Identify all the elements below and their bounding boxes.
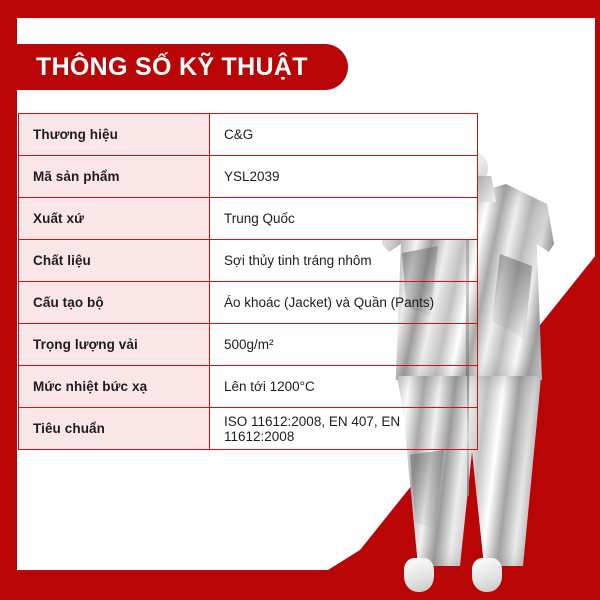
spec-value-cell: 500g/m²: [210, 324, 478, 366]
boot-left-shape: [404, 558, 434, 592]
spec-label-cell: Mã sản phẩm: [19, 156, 210, 198]
spec-label-cell: Xuất xứ: [19, 198, 210, 240]
table-row: Mã sản phẩm YSL2039: [19, 156, 478, 198]
spec-label-cell: Cấu tạo bộ: [19, 282, 210, 324]
table-row: Thương hiệu C&G: [19, 114, 478, 156]
spec-label-cell: Tiêu chuẩn: [19, 408, 210, 450]
spec-value-cell: Trung Quốc: [210, 198, 478, 240]
spec-value-cell: ISO 11612:2008, EN 407, EN 11612:2008: [210, 408, 478, 450]
spec-label-cell: Trọng lượng vải: [19, 324, 210, 366]
table-row: Tiêu chuẩn ISO 11612:2008, EN 407, EN 11…: [19, 408, 478, 450]
table-row: Chất liệu Sợi thủy tinh tráng nhôm: [19, 240, 478, 282]
frame-border-top: [0, 0, 600, 18]
spec-value-cell: C&G: [210, 114, 478, 156]
spec-label-cell: Thương hiệu: [19, 114, 210, 156]
table-row: Mức nhiệt bức xạ Lên tới 1200°C: [19, 366, 478, 408]
spec-value-cell: Sợi thủy tinh tráng nhôm: [210, 240, 478, 282]
specification-table-body: Thương hiệu C&G Mã sản phẩm YSL2039 Xuất…: [19, 114, 478, 450]
spec-label-cell: Mức nhiệt bức xạ: [19, 366, 210, 408]
spec-label-cell: Chất liệu: [19, 240, 210, 282]
spec-value-cell: Áo khoác (Jacket) và Quần (Pants): [210, 282, 478, 324]
table-row: Xuất xứ Trung Quốc: [19, 198, 478, 240]
specification-table: Thương hiệu C&G Mã sản phẩm YSL2039 Xuất…: [18, 113, 478, 450]
page-title-banner: THÔNG SỐ KỸ THUẬT: [0, 44, 348, 90]
frame-border-left: [0, 0, 17, 600]
page-title: THÔNG SỐ KỸ THUẬT: [36, 53, 308, 82]
spec-value-cell: YSL2039: [210, 156, 478, 198]
table-row: Cấu tạo bộ Áo khoác (Jacket) và Quần (Pa…: [19, 282, 478, 324]
table-row: Trọng lượng vải 500g/m²: [19, 324, 478, 366]
spec-value-cell: Lên tới 1200°C: [210, 366, 478, 408]
boot-right-shape: [472, 558, 502, 592]
spec-sheet-canvas: THÔNG SỐ KỸ THUẬT Thương hiệu C&G Mã sản…: [0, 0, 600, 600]
